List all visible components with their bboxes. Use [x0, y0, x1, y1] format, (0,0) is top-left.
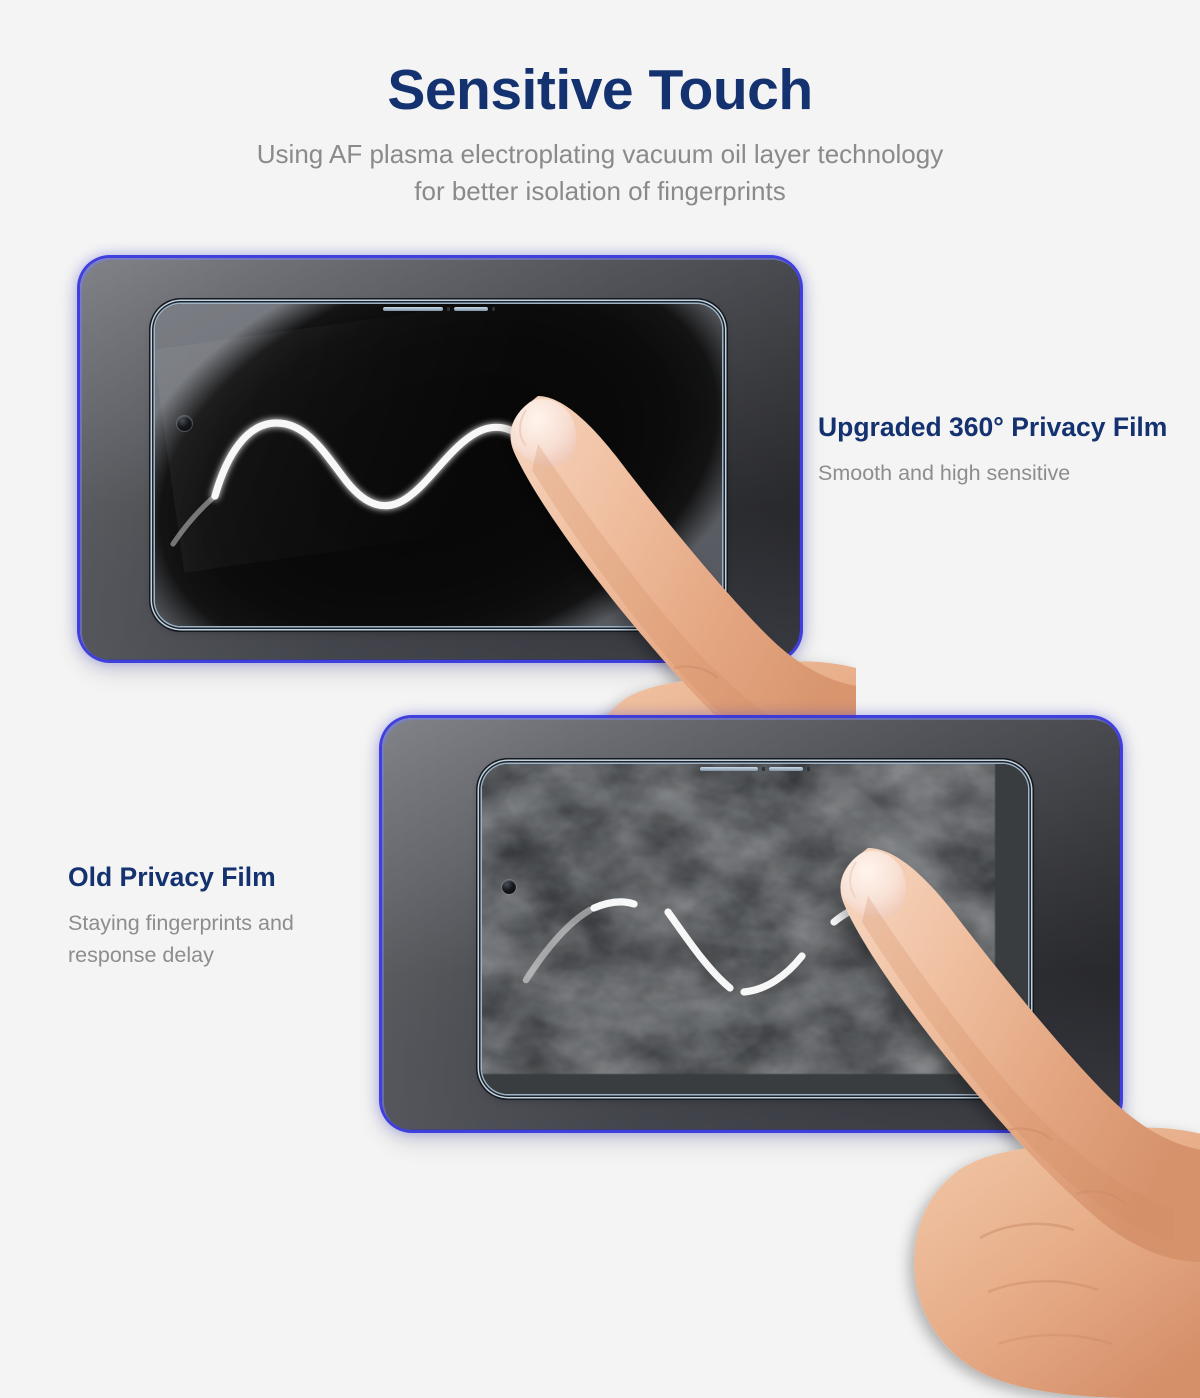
device-screen-frame	[155, 304, 722, 626]
callout-old-privacy-film: Old Privacy Film Staying fingerprints an…	[68, 862, 368, 972]
callout-title: Upgraded 360° Privacy Film	[818, 412, 1167, 444]
page-subtitle-line-2: for better isolation of fingerprints	[0, 173, 1200, 210]
swipe-trail-smooth	[155, 304, 722, 626]
page-title: Sensitive Touch	[0, 0, 1200, 119]
ambient-light-sensor-icon	[492, 307, 495, 311]
device-upgraded-privacy-film	[80, 258, 800, 660]
screen-old-film[interactable]	[482, 764, 1028, 1094]
page-subtitle: Using AF plasma electroplating vacuum oi…	[0, 119, 1200, 210]
callout-title: Old Privacy Film	[68, 862, 368, 894]
screen-upgraded-film[interactable]	[155, 304, 722, 626]
product-feature-banner: Sensitive Touch Using AF plasma electrop…	[0, 0, 1200, 1200]
ambient-light-sensor-icon	[807, 767, 810, 771]
front-camera-icon	[502, 880, 516, 894]
callout-upgraded-privacy-film: Upgraded 360° Privacy Film Smooth and hi…	[818, 412, 1167, 489]
device-screen-frame	[482, 764, 1028, 1094]
callout-subtitle: Smooth and high sensitive	[818, 444, 1167, 490]
proximity-sensor-icon	[447, 307, 450, 311]
header: Sensitive Touch Using AF plasma electrop…	[0, 0, 1200, 210]
front-camera-icon	[177, 416, 192, 431]
callout-subtitle-line-2: response delay	[68, 939, 368, 972]
device-old-privacy-film	[382, 718, 1120, 1130]
earpiece-speaker-icon	[700, 767, 810, 771]
swipe-trail-broken	[482, 764, 1028, 1094]
callout-subtitle-line-1: Staying fingerprints and	[68, 907, 368, 940]
callout-subtitle: Staying fingerprints and response delay	[68, 894, 368, 972]
page-subtitle-line-1: Using AF plasma electroplating vacuum oi…	[0, 136, 1200, 173]
proximity-sensor-icon	[762, 767, 765, 771]
earpiece-speaker-icon	[383, 307, 495, 311]
